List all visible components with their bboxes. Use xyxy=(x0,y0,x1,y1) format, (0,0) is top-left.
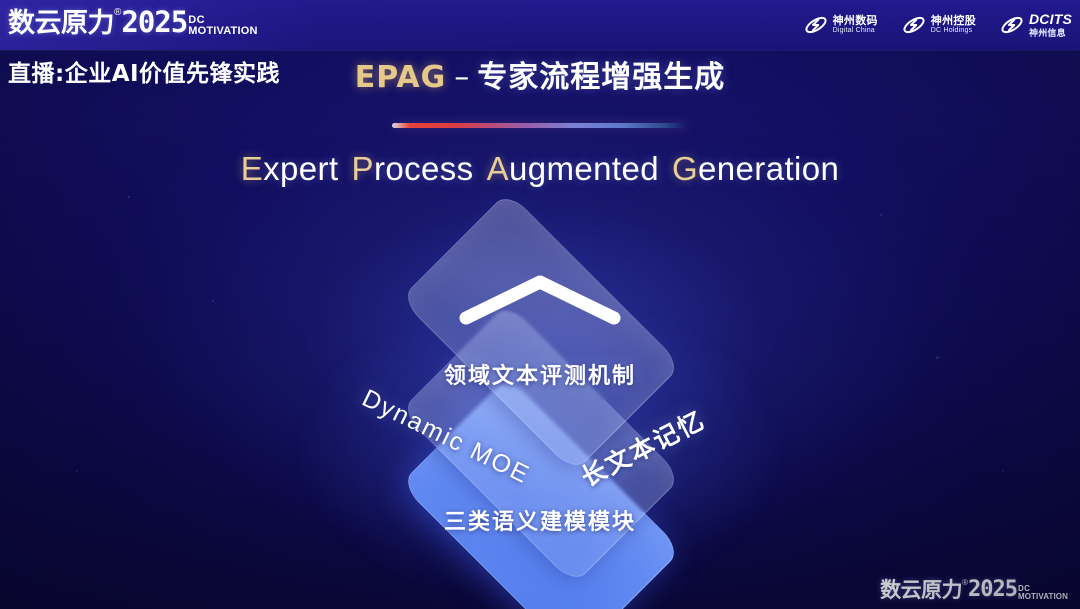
swirl-icon xyxy=(804,13,828,37)
chevron-up-icon xyxy=(456,270,624,328)
footer-logo-year: 2025 xyxy=(968,579,1017,601)
subtitle-cap-g: G xyxy=(672,150,698,187)
event-logo-cn: 数云原力 xyxy=(8,10,114,37)
partner-logo-dc-holdings: 神州控股 DC Holdings xyxy=(902,13,976,37)
partner-name-en: Digital China xyxy=(833,27,878,35)
partner-logo-dcits: DCITS 神州信息 xyxy=(1000,12,1072,38)
partner-logo-digital-china: 神州数码 Digital China xyxy=(804,13,878,37)
title-chinese: 专家流程增强生成 xyxy=(477,60,725,95)
diagram-layer-top-label: 领域文本评测机制 xyxy=(334,358,746,390)
footer-logo-dc-line2: MOTIVATION xyxy=(1018,593,1068,601)
subtitle-cap-e: E xyxy=(241,150,263,187)
live-stream-label: 直播:企业AI价值先锋实践 xyxy=(8,54,280,88)
subtitle-cap-a: A xyxy=(487,150,509,187)
gradient-divider xyxy=(392,123,688,128)
footer-logo-cn: 数云原力 xyxy=(880,580,962,601)
slide-canvas: 数云原力 ® 2025 DC MOTIVATION 神州数码 Digital C… xyxy=(0,0,1080,609)
partner-name-latin: DCITS xyxy=(1029,12,1072,28)
swirl-icon xyxy=(902,13,926,37)
partner-name-en: DC Holdings xyxy=(931,27,976,35)
top-banner: 数云原力 ® 2025 DC MOTIVATION 神州数码 Digital C… xyxy=(0,0,1080,50)
swirl-icon xyxy=(1000,13,1024,37)
event-logo-year: 2025 xyxy=(121,8,187,37)
partner-label: 神州控股 DC Holdings xyxy=(931,15,976,35)
partner-name-cn: 神州信息 xyxy=(1029,28,1072,38)
footer-logo: 数云原力 ® 2025 DC MOTIVATION xyxy=(880,579,1068,601)
subtitle-rest-process: rocess xyxy=(374,150,474,187)
subtitle-cap-p: P xyxy=(352,150,374,187)
subtitle-rest-expert: xpert xyxy=(263,150,338,187)
page-subtitle: ExpertProcessAugmentedGeneration xyxy=(0,150,1080,188)
subtitle-rest-augmented: ugmented xyxy=(509,150,659,187)
partner-label: DCITS 神州信息 xyxy=(1029,12,1072,38)
footer-logo-dc: DC MOTIVATION xyxy=(1018,585,1068,601)
subtitle-rest-generation: eneration xyxy=(698,150,839,187)
event-logo-dc: DC MOTIVATION xyxy=(188,15,257,37)
partner-name-cn: 神州数码 xyxy=(833,15,878,27)
event-logo-dc-line2: MOTIVATION xyxy=(188,26,257,37)
title-dash: – xyxy=(446,60,477,95)
partner-logos: 神州数码 Digital China 神州控股 DC Holdings xyxy=(804,6,1072,44)
title-acronym: EPAG xyxy=(355,60,447,95)
partner-name-cn: 神州控股 xyxy=(931,15,976,27)
diagram-layer-bottom-label: 三类语义建模模块 xyxy=(300,504,780,536)
event-logo: 数云原力 ® 2025 DC MOTIVATION xyxy=(8,8,258,37)
partner-label: 神州数码 Digital China xyxy=(833,15,878,35)
